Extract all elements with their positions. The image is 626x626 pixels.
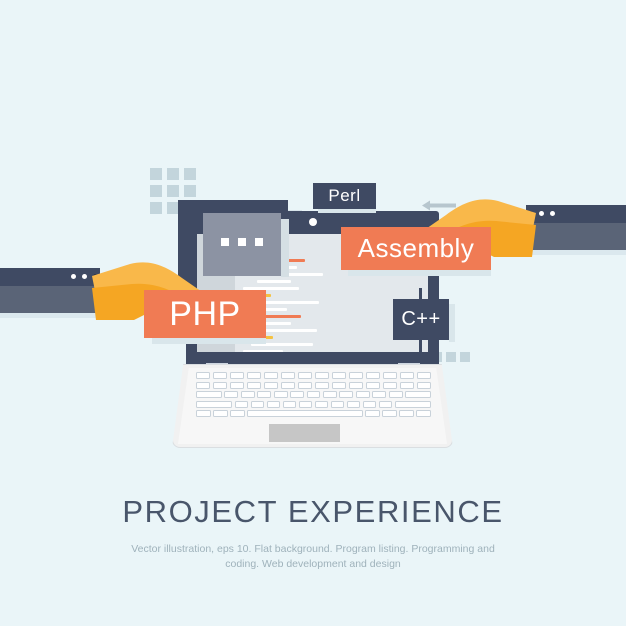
- keyboard-key[interactable]: [383, 372, 397, 379]
- tag-cpp[interactable]: C++: [393, 299, 449, 340]
- keyboard-key[interactable]: [405, 391, 431, 398]
- code-line: [257, 280, 291, 283]
- tag-perl[interactable]: Perl: [313, 183, 376, 209]
- page-subtitle: Vector illustration, eps 10. Flat backgr…: [123, 542, 503, 572]
- keyboard-key[interactable]: [366, 372, 380, 379]
- keyboard-key[interactable]: [235, 401, 248, 408]
- gray-window-dot-icon: [221, 238, 229, 246]
- keyboard-key[interactable]: [196, 391, 222, 398]
- keyboard-key[interactable]: [251, 401, 264, 408]
- keyboard-key[interactable]: [274, 391, 288, 398]
- gray-window-dot-icon: [255, 238, 263, 246]
- keyboard-key[interactable]: [315, 382, 329, 389]
- keyboard-key[interactable]: [395, 401, 431, 408]
- keyboard-key[interactable]: [399, 410, 414, 417]
- keyboard-row: [196, 391, 431, 398]
- keyboard-key[interactable]: [281, 372, 295, 379]
- keyboard-key[interactable]: [400, 372, 414, 379]
- keyboard-row: [196, 401, 431, 408]
- keyboard-key[interactable]: [366, 382, 380, 389]
- keyboard-key[interactable]: [264, 382, 278, 389]
- sleeve-title-bar: [526, 205, 626, 223]
- keyboard-key[interactable]: [281, 382, 295, 389]
- keyboard-key[interactable]: [365, 410, 380, 417]
- tag-assembly-shadow: [348, 270, 491, 276]
- keyboard-row: [196, 372, 431, 379]
- caption-block: PROJECT EXPERIENCE Vector illustration, …: [0, 492, 626, 572]
- laptop-keyboard: [196, 372, 431, 419]
- keyboard-key[interactable]: [247, 372, 261, 379]
- keyboard-row: [196, 410, 431, 417]
- keyboard-key[interactable]: [283, 401, 296, 408]
- keyboard-key[interactable]: [315, 372, 329, 379]
- keyboard-key[interactable]: [299, 401, 312, 408]
- tag-cpp-shadow: [449, 304, 455, 342]
- webcam-dot-icon: [309, 218, 317, 226]
- keyboard-key[interactable]: [315, 401, 328, 408]
- keyboard-key[interactable]: [247, 382, 261, 389]
- window-dot-icon: [539, 211, 544, 216]
- sleeve-title-bar: [0, 268, 100, 286]
- gray-window-dot-icon: [238, 238, 246, 246]
- keyboard-key[interactable]: [356, 391, 370, 398]
- tag-perl-shadow: [318, 209, 376, 213]
- window-dot-icon: [82, 274, 87, 279]
- keyboard-key[interactable]: [196, 372, 210, 379]
- keyboard-key[interactable]: [196, 382, 210, 389]
- keyboard-key[interactable]: [379, 401, 392, 408]
- keyboard-key[interactable]: [230, 410, 245, 417]
- keyboard-key[interactable]: [224, 391, 238, 398]
- keyboard-key[interactable]: [213, 372, 227, 379]
- keyboard-key[interactable]: [213, 382, 227, 389]
- keyboard-key[interactable]: [349, 382, 363, 389]
- keyboard-key[interactable]: [196, 401, 232, 408]
- window-dot-icon: [550, 211, 555, 216]
- keyboard-key[interactable]: [230, 372, 244, 379]
- code-line: [243, 350, 283, 352]
- keyboard-key[interactable]: [264, 372, 278, 379]
- keyboard-key[interactable]: [298, 382, 312, 389]
- keyboard-key[interactable]: [416, 410, 431, 417]
- tag-php[interactable]: PHP: [144, 290, 266, 338]
- gray-window-shadow: [281, 219, 289, 277]
- illustration-canvas: Perl Assembly PHP C++ PROJECT EXPERIENCE…: [0, 0, 626, 626]
- keyboard-key[interactable]: [323, 391, 337, 398]
- keyboard-key[interactable]: [247, 410, 362, 417]
- keyboard-key[interactable]: [417, 382, 431, 389]
- tag-assembly[interactable]: Assembly: [341, 227, 491, 270]
- keyboard-key[interactable]: [213, 410, 228, 417]
- keyboard-key[interactable]: [382, 410, 397, 417]
- keyboard-key[interactable]: [257, 391, 271, 398]
- keyboard-key[interactable]: [332, 372, 346, 379]
- keyboard-key[interactable]: [267, 401, 280, 408]
- keyboard-key[interactable]: [331, 401, 344, 408]
- keyboard-key[interactable]: [349, 372, 363, 379]
- keyboard-key[interactable]: [298, 372, 312, 379]
- sleeve-right-shadow: [526, 250, 626, 255]
- keyboard-row: [196, 382, 431, 389]
- arrow-left-icon: [422, 198, 456, 209]
- keyboard-key[interactable]: [307, 391, 321, 398]
- keyboard-key[interactable]: [241, 391, 255, 398]
- keyboard-key[interactable]: [290, 391, 304, 398]
- tag-php-shadow: [152, 338, 266, 344]
- sleeve-window-left: [0, 268, 100, 313]
- keyboard-key[interactable]: [400, 382, 414, 389]
- keyboard-key[interactable]: [417, 372, 431, 379]
- keyboard-key[interactable]: [372, 391, 386, 398]
- window-dot-icon: [71, 274, 76, 279]
- page-title: PROJECT EXPERIENCE: [0, 492, 626, 532]
- keyboard-key[interactable]: [196, 410, 211, 417]
- keyboard-key[interactable]: [383, 382, 397, 389]
- keyboard-key[interactable]: [339, 391, 353, 398]
- keyboard-key[interactable]: [332, 382, 346, 389]
- cpp-connector-bottom: [419, 339, 422, 353]
- keyboard-key[interactable]: [363, 401, 376, 408]
- keyboard-key[interactable]: [389, 391, 403, 398]
- sleeve-window-right: [526, 205, 626, 250]
- sleeve-left-shadow: [0, 313, 100, 318]
- keyboard-key[interactable]: [347, 401, 360, 408]
- laptop-trackpad: [269, 424, 340, 442]
- keyboard-key[interactable]: [230, 382, 244, 389]
